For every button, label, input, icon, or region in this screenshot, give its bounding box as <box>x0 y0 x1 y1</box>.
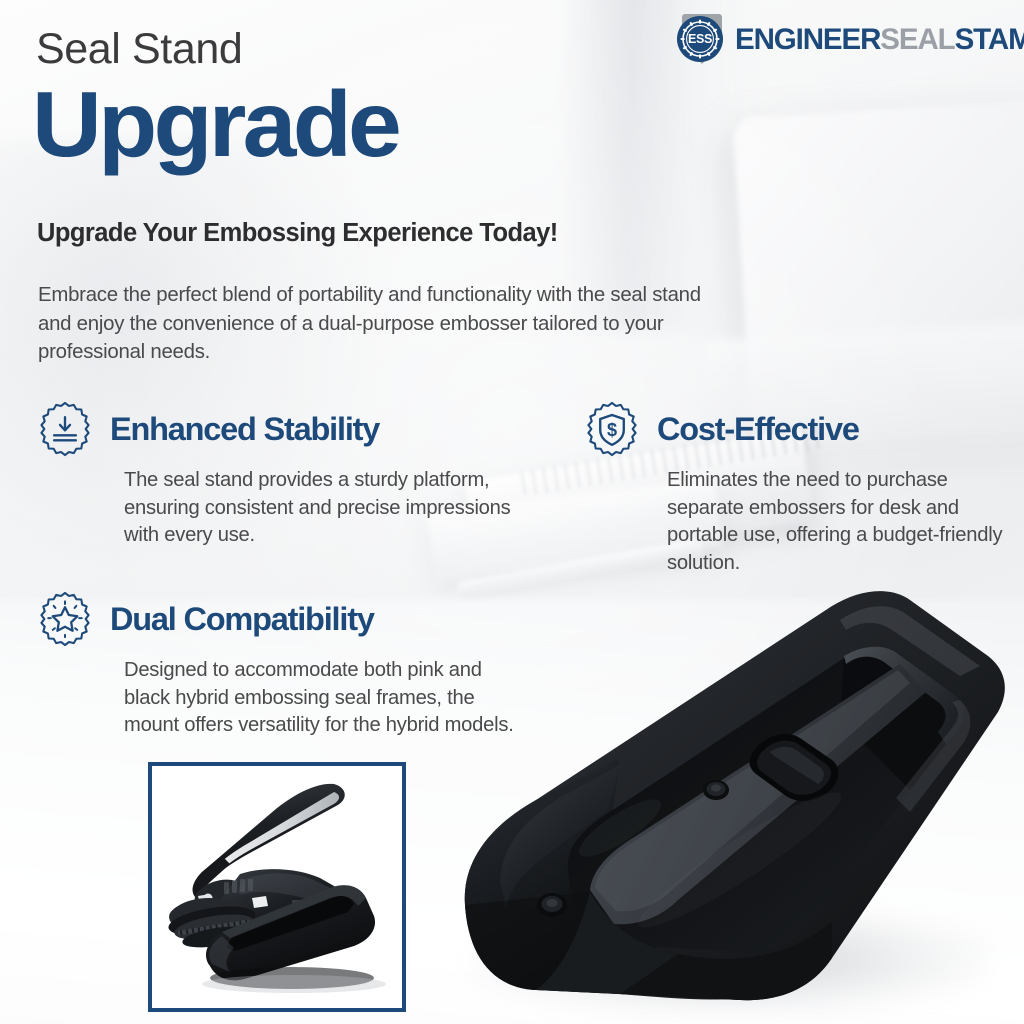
feature-body: Eliminates the need to purchase separate… <box>667 467 1003 578</box>
feature-header: Enhanced Stability <box>36 400 546 458</box>
page-title: Upgrade <box>32 78 398 171</box>
brand-logo[interactable]: ESS ENGINEERSEALSTAMPS.COM <box>676 12 1010 68</box>
feature-title: Dual Compatibility <box>110 603 374 636</box>
logo-word-seal: SEAL <box>880 25 954 55</box>
page-kicker: Seal Stand <box>36 28 242 71</box>
feature-title: Enhanced Stability <box>110 413 379 446</box>
svg-text:$: $ <box>607 420 617 440</box>
feature-dual-compatibility: Dual Compatibility Designed to accommoda… <box>36 590 516 740</box>
feature-body: Designed to accommodate both pink and bl… <box>124 657 516 740</box>
feature-header: Dual Compatibility <box>36 590 516 648</box>
logo-wordmark: ENGINEERSEALSTAMPS.COM <box>735 25 1024 56</box>
shield-dollar-badge-icon: $ <box>583 400 641 458</box>
feature-enhanced-stability: Enhanced Stability The seal stand provid… <box>36 400 546 550</box>
logo-word-stamps: STAMPS <box>955 25 1024 55</box>
logo-monogram: ESS <box>676 15 724 63</box>
intro-paragraph: Embrace the perfect blend of portability… <box>38 281 710 367</box>
embosser-illustration <box>152 766 402 1008</box>
feature-title: Cost-Effective <box>657 413 859 446</box>
product-shadow <box>470 905 990 1015</box>
logo-word-engineer: ENGINEER <box>735 25 880 55</box>
feature-header: $ Cost-Effective <box>583 400 1003 458</box>
inset-photo-canvas <box>152 766 402 1008</box>
feature-cost-effective: $ Cost-Effective Eliminates the need to … <box>583 400 1003 578</box>
infographic-canvas: ESS ENGINEERSEALSTAMPS.COM Seal Stand Up… <box>0 0 1024 1024</box>
page-subheading: Upgrade Your Embossing Experience Today! <box>37 219 558 247</box>
background-blurred-laptop <box>732 98 1024 448</box>
feature-body: The seal stand provides a sturdy platfor… <box>124 467 546 550</box>
embosser-on-seal-stand-inset-photo <box>148 762 406 1012</box>
logo-shield-mark: ESS <box>676 13 728 67</box>
download-to-platform-badge-icon <box>36 400 94 458</box>
star-sparkle-badge-icon <box>36 590 94 648</box>
